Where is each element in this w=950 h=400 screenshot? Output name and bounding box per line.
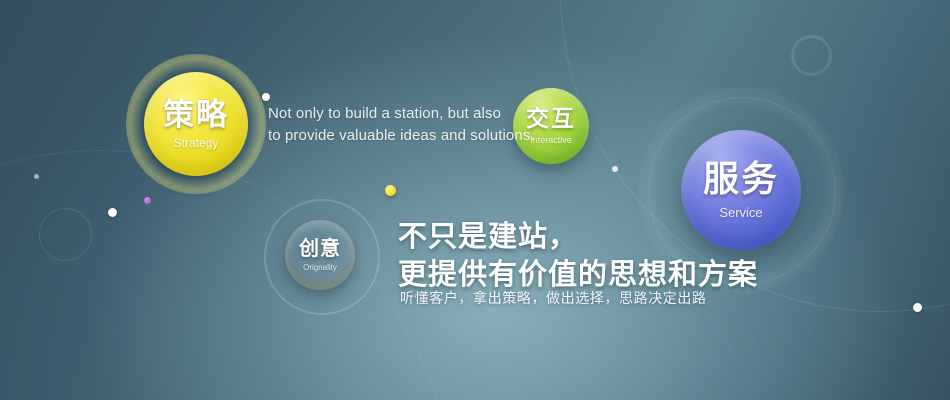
- decor-dot-white-left: [108, 208, 117, 217]
- bubble-originality[interactable]: 创意 Orignality: [285, 220, 355, 290]
- background-arc-lower-left: [0, 150, 452, 400]
- decor-ring-mid-left: [39, 208, 92, 261]
- hero-banner: 策略 Strategy 交互 Interactive 创意 Orignality…: [0, 0, 950, 400]
- decor-dot-yellow-mid: [385, 185, 396, 196]
- bubble-interactive-label-en: Interactive: [530, 136, 572, 145]
- decor-dot-purple-left: [144, 197, 151, 204]
- bubble-originality-label-en: Orignality: [303, 264, 337, 272]
- english-tagline: Not only to build a station, but also to…: [268, 103, 535, 147]
- decor-dot-white-right: [612, 166, 618, 172]
- headline: 不只是建站， 更提供有价值的思想和方案: [398, 218, 758, 295]
- bubble-service-label-cn: 服务: [703, 161, 779, 197]
- decor-dot-white-top: [262, 93, 270, 101]
- bubble-strategy-label-en: Strategy: [174, 137, 219, 149]
- subline: 听懂客户，拿出策略，做出选择，思路决定出路: [400, 288, 707, 308]
- bubble-originality-label-cn: 创意: [299, 239, 341, 259]
- decor-ring-top-right: [791, 35, 832, 76]
- bubble-strategy[interactable]: 策略 Strategy: [144, 72, 248, 176]
- bubble-strategy-label-cn: 策略: [163, 99, 229, 130]
- decor-dot-gray-left: [34, 174, 39, 179]
- decor-dot-white-bottom: [913, 303, 922, 312]
